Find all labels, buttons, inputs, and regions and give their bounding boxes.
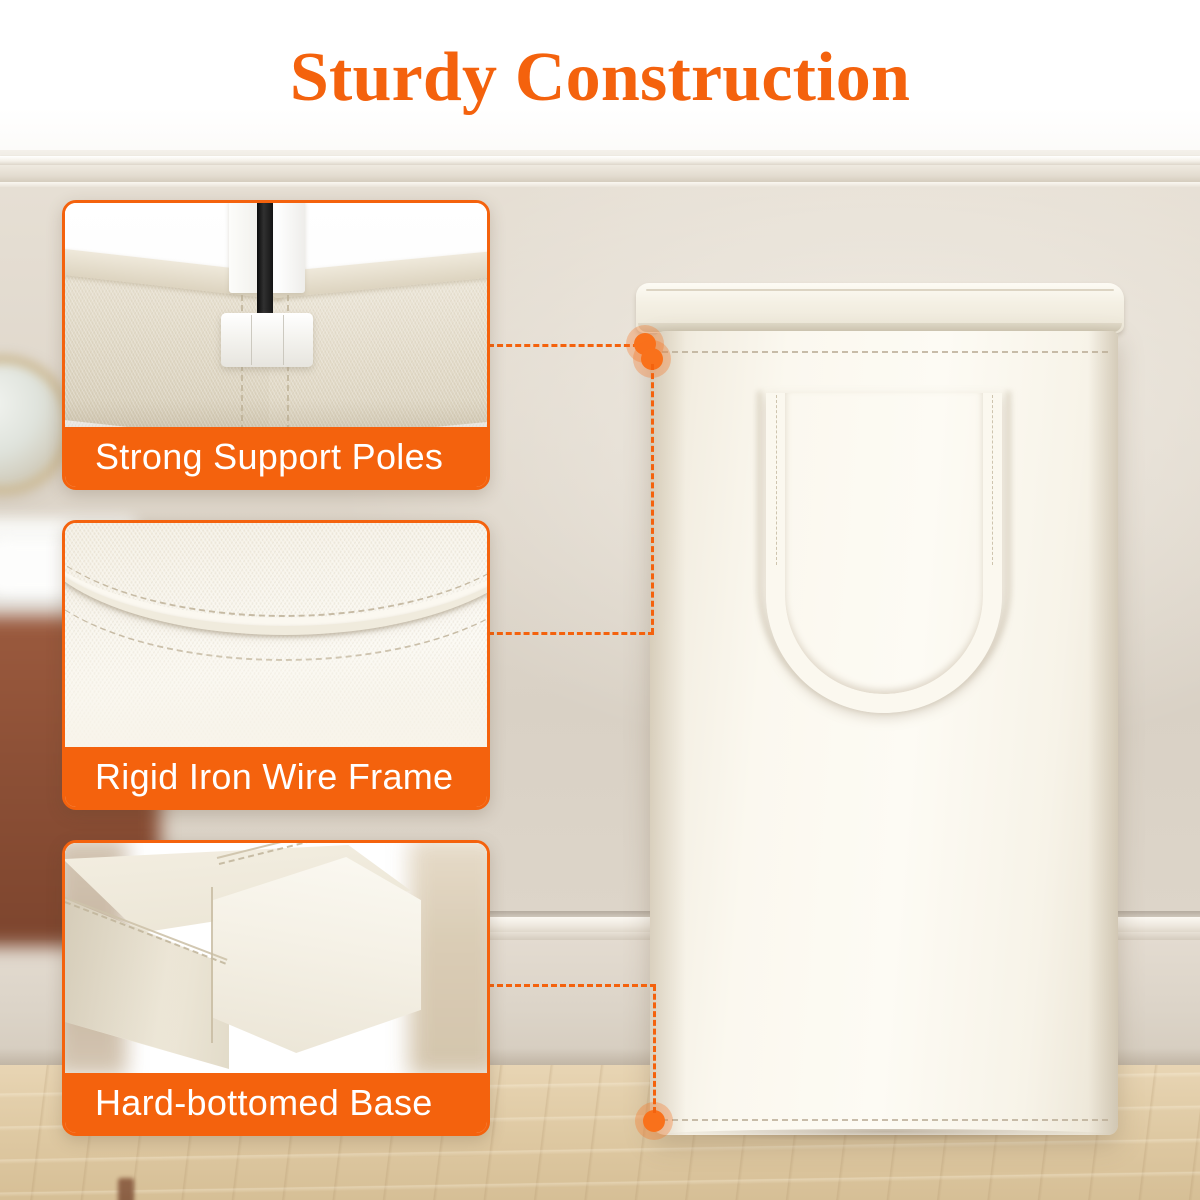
handle-stitch-right	[992, 395, 993, 565]
photo1-fabric-clip	[221, 313, 313, 367]
connector-line-card2-vertical	[651, 364, 654, 634]
hard-base-corner-closeup-photo	[65, 843, 487, 1073]
handle-strap	[766, 393, 1002, 713]
hamper-top-stitching	[662, 351, 1108, 353]
handle-stitch-left	[776, 395, 777, 565]
infographic-canvas: Sturdy Construction Strong Support Poles	[0, 0, 1200, 1200]
connector-line-card1-horizontal	[488, 344, 648, 347]
photo1-inner-shadow	[65, 399, 487, 427]
hamper-lid-seam	[646, 289, 1114, 291]
hamper-floor-shadow	[658, 1129, 1114, 1141]
photo1-clip-fold-right	[283, 315, 284, 365]
photo1-clip-fold-left	[251, 315, 252, 365]
connector-line-card2-horizontal	[488, 632, 654, 635]
hamper-bottom-stitching	[662, 1119, 1108, 1121]
card-hard-bottomed-base[interactable]: Hard-bottomed Base	[62, 840, 490, 1136]
hamper-body-right-fold	[1088, 331, 1118, 1135]
chair-rail-molding-top	[0, 156, 1200, 165]
header-band: Sturdy Construction	[0, 0, 1200, 150]
photo3-corner-edge	[211, 887, 213, 1043]
card1-label-text: Strong Support Poles	[95, 436, 443, 478]
card-strong-support-poles[interactable]: Strong Support Poles	[62, 200, 490, 490]
connector-line-card3-vertical	[653, 985, 656, 1113]
support-pole-closeup-photo	[65, 203, 487, 427]
card3-label-banner: Hard-bottomed Base	[65, 1073, 487, 1133]
laundry-hamper-product	[618, 283, 1124, 1135]
photo1-black-support-pole	[257, 203, 273, 325]
callout-dot-base-corner[interactable]	[643, 1110, 665, 1132]
connector-line-card3-horizontal	[488, 984, 656, 987]
card1-label-banner: Strong Support Poles	[65, 427, 487, 487]
hamper-carry-handle	[766, 393, 1002, 713]
photo2-lower-panel	[65, 635, 487, 747]
page-title: Sturdy Construction	[0, 43, 1200, 113]
furniture-leg	[118, 1178, 134, 1200]
chair-rail-molding-middle	[0, 165, 1200, 183]
iron-wire-frame-closeup-photo	[65, 523, 487, 747]
card2-label-text: Rigid Iron Wire Frame	[95, 756, 453, 798]
card2-label-banner: Rigid Iron Wire Frame	[65, 747, 487, 807]
card3-label-text: Hard-bottomed Base	[95, 1082, 433, 1124]
card-rigid-iron-wire-frame[interactable]: Rigid Iron Wire Frame	[62, 520, 490, 810]
